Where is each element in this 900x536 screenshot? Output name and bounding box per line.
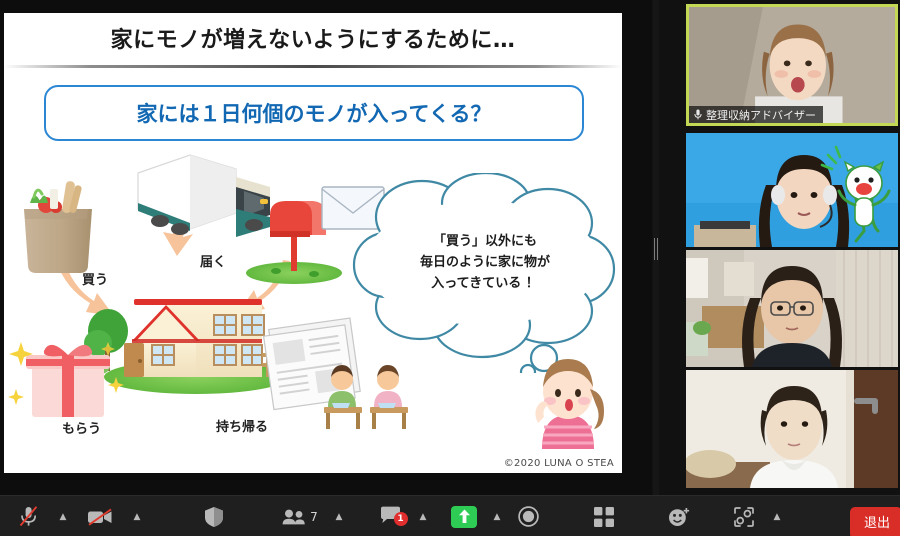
title-divider [4,65,622,68]
label-deliver: 届く [200,251,226,270]
thinking-girl-icon [512,345,622,473]
grocery-bag-icon [24,181,92,273]
splitter-grip[interactable] [654,238,658,260]
reactions-button[interactable] [656,496,702,536]
video-feed-3 [686,370,898,488]
apps-button[interactable] [722,496,766,536]
video-thumbnail-strip[interactable]: 整理収納アドバイザー [684,0,900,495]
share-screen-icon [451,506,477,528]
video-button[interactable] [78,496,122,536]
video-tile-3[interactable] [686,370,898,488]
video-feed-2 [686,250,898,367]
video-options-caret[interactable]: ▲ [126,496,148,536]
thought-bubble-text: 「買う」以外にも 毎日のように家に物が 入ってきている ！ [352,231,618,294]
video-feed-1 [686,133,898,247]
question-box: 家には１日何個のモノが入ってくる？ [44,85,584,141]
participants-button[interactable]: 7 [272,496,328,536]
chevron-up-icon: ▲ [336,512,343,522]
video-tile-1[interactable] [686,133,898,247]
participants-icon [282,509,306,525]
chevron-up-icon: ▲ [134,512,141,522]
delivery-truck-icon [138,155,270,237]
chat-button[interactable]: 1 [368,496,412,536]
shared-screen-area[interactable]: 家にモノが増えないようにするために… 家には１日何個のモノが入ってくる？ [0,0,652,495]
question-text: 家には１日何個のモノが入ってくる？ [137,98,492,128]
chevron-up-icon: ▲ [494,512,501,522]
meeting-toolbar[interactable]: ▲ ▲ 7 [0,495,900,536]
record-icon [518,506,539,527]
video-tile-2[interactable] [686,250,898,367]
chevron-up-icon: ▲ [60,512,67,522]
chevron-up-icon: ▲ [420,512,427,522]
camera-off-icon [87,508,113,526]
shield-icon [204,506,224,528]
chat-badge: 1 [394,512,408,526]
breakout-rooms-button[interactable] [582,496,626,536]
focus-frame-icon [734,507,754,527]
presentation-slide: 家にモノが増えないようにするために… 家には１日何個のモノが入ってくる？ [4,13,622,473]
record-button[interactable] [506,496,550,536]
panel-splitter[interactable] [653,0,659,495]
microphone-muted-icon [19,506,38,527]
share-options-caret[interactable]: ▲ [486,496,508,536]
participant-name-0: 整理収納アドバイザー [706,107,816,123]
video-tile-0[interactable]: 整理収納アドバイザー [686,4,898,126]
mute-options-caret[interactable]: ▲ [52,496,74,536]
participants-options-caret[interactable]: ▲ [328,496,350,536]
mute-button[interactable] [8,496,48,536]
slide-title: 家にモノが増えないようにするために… [111,22,516,54]
participant-name-badge-0: 整理収納アドバイザー [689,106,823,123]
thought-bubble: 「買う」以外にも 毎日のように家に物が 入ってきている ！ [352,173,618,373]
share-screen-button[interactable] [442,496,486,536]
students-desk-icon [324,365,408,429]
apps-options-caret[interactable]: ▲ [766,496,788,536]
label-receive: もらう [62,418,101,437]
zoom-meeting-window: 家にモノが増えないようにするために… 家には１日何個のモノが入ってくる？ [0,0,900,536]
label-buy: 買う [82,269,108,288]
chat-options-caret[interactable]: ▲ [412,496,434,536]
chevron-up-icon: ▲ [774,512,781,522]
slide-title-bar: 家にモノが増えないようにするために… [4,13,622,63]
leave-meeting-button[interactable]: 退出 [850,507,900,536]
security-button[interactable] [190,496,238,536]
reactions-smiley-icon [668,507,690,527]
participants-count: 7 [310,510,318,524]
mic-muted-icon [694,109,702,120]
label-bring-home: 持ち帰る [216,416,268,435]
breakout-rooms-icon [594,507,614,527]
copyright-text: ©2020 LUNA O STEA [504,458,614,469]
